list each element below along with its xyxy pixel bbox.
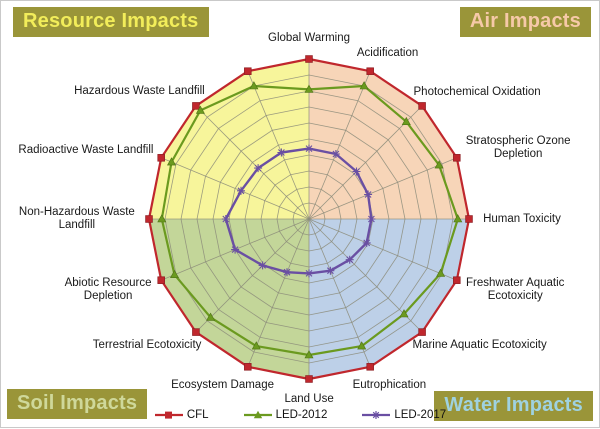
marker-cfl-13: [158, 154, 165, 161]
axis-label-radioactive-waste-landfill: Radioactive Waste Landfill: [18, 144, 153, 157]
axis-label-abiotic-resource-depletion: Abiotic Resource Depletion: [65, 277, 152, 303]
axis-label-photochemical-oxidation: Photochemical Oxidation: [414, 86, 541, 99]
axis-label-stratospheric-ozone-depletion: Stratospheric Ozone Depletion: [466, 135, 571, 161]
marker-cfl-15: [244, 68, 251, 75]
marker-led-2017-15: [277, 149, 285, 157]
chart-frame: Resource Impacts Air Impacts Soil Impact…: [1, 1, 599, 427]
legend-label: LED-2017: [394, 409, 446, 421]
axis-label-acidification: Acidification: [357, 47, 418, 60]
legend-marker-square-icon: [154, 409, 184, 421]
marker-cfl-1: [367, 68, 374, 75]
legend-label: LED-2012: [276, 409, 328, 421]
marker-cfl-5: [453, 277, 460, 284]
axis-label-land-use: Land Use: [285, 393, 334, 406]
marker-led-2017-10: [259, 261, 267, 269]
marker-cfl-9: [244, 363, 251, 370]
marker-cfl-3: [453, 154, 460, 161]
marker-cfl-6: [419, 329, 426, 336]
axis-label-eutrophication: Eutrophication: [353, 379, 427, 392]
legend-label: CFL: [187, 409, 209, 421]
marker-cfl-4: [466, 216, 473, 223]
marker-cfl-0: [306, 56, 313, 63]
marker-led-2017-5: [363, 239, 371, 247]
marker-cfl-11: [158, 277, 165, 284]
axis-label-human-toxicity: Human Toxicity: [483, 213, 561, 226]
marker-cfl-2: [419, 103, 426, 110]
chart-legend: CFLLED-2012LED-2017: [1, 409, 599, 421]
axis-label-marine-aquatic-ecotoxicity: Marine Aquatic Ecotoxicity: [413, 339, 547, 352]
marker-led-2017-14: [254, 164, 262, 172]
marker-led-2017-2: [353, 168, 361, 176]
axis-label-terrestrial-ecotoxicity: Terrestrial Ecotoxicity: [93, 339, 202, 352]
marker-led-2017-4: [367, 215, 375, 223]
marker-cfl-7: [367, 363, 374, 370]
marker-led-2017-8: [305, 269, 313, 277]
marker-led-2017-3: [364, 191, 372, 199]
marker-cfl-10: [193, 329, 200, 336]
marker-cfl-12: [146, 216, 153, 223]
legend-marker-star-icon: [361, 409, 391, 421]
axis-label-non-hazardous-waste-landfill: Non-Hazardous Waste Landfill: [19, 206, 135, 232]
marker-led-2017-9: [283, 268, 291, 276]
legend-item-cfl[interactable]: CFL: [154, 409, 209, 421]
marker-cfl-14: [193, 103, 200, 110]
axis-label-freshwater-aquatic-ecotoxicity: Freshwater Aquatic Ecotoxicity: [466, 277, 564, 303]
marker-cfl-8: [306, 376, 313, 383]
axis-label-ecosystem-damage: Ecosystem Damage: [171, 379, 274, 392]
radar-chart: Global WarmingAcidificationPhotochemical…: [1, 1, 600, 429]
marker-led-2017-13: [237, 187, 245, 195]
marker-led-2017-6: [346, 256, 354, 264]
marker-led-2017-11: [231, 246, 239, 254]
marker-led-2017-7: [326, 267, 334, 275]
legend-marker-triangle-icon: [243, 409, 273, 421]
legend-item-led-2017[interactable]: LED-2017: [361, 409, 446, 421]
axis-label-global-warming: Global Warming: [268, 32, 350, 45]
legend-item-led-2012[interactable]: LED-2012: [243, 409, 328, 421]
marker-led-2017-1: [332, 150, 340, 158]
axis-label-hazardous-waste-landfill: Hazardous Waste Landfill: [74, 85, 205, 98]
marker-led-2017-0: [305, 145, 313, 153]
marker-led-2017-12: [222, 215, 230, 223]
